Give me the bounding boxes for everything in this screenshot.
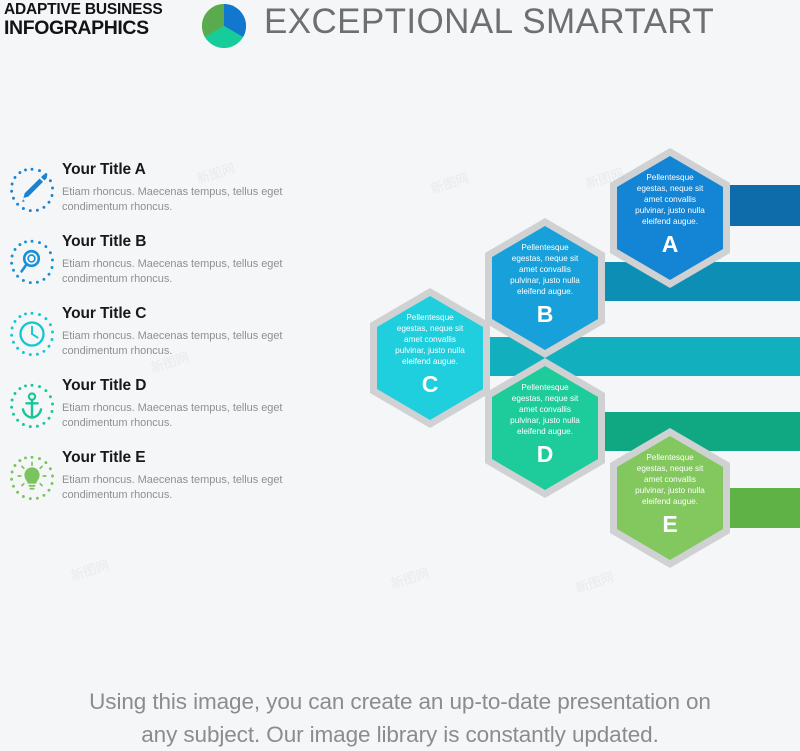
hexagon-e-line-2: egestas, neque sit bbox=[637, 464, 704, 473]
hexagon-e-line-1: Pellentesque bbox=[646, 453, 694, 462]
hexagon-e-letter: E bbox=[662, 511, 677, 537]
footer-line-2: any subject. Our image library is consta… bbox=[0, 718, 800, 751]
hexagon-b-letter: B bbox=[537, 301, 554, 327]
hexagon-d-letter: D bbox=[537, 441, 554, 467]
hexagon-b-line-1: Pellentesque bbox=[521, 243, 569, 252]
hexagon-d-line-2: egestas, neque sit bbox=[512, 394, 579, 403]
hexagon-c-line-3: amet convallis bbox=[404, 335, 456, 344]
hexagon-b-line-5: eleifend augue. bbox=[517, 287, 573, 296]
hexagon-e-line-4: pulvinar, justo nulla bbox=[635, 486, 705, 495]
hexagon-a-line-2: egestas, neque sit bbox=[637, 184, 704, 193]
hexagon-d-line-5: eleifend augue. bbox=[517, 427, 573, 436]
hexagon-c[interactable]: Pellentesque egestas, neque sit amet con… bbox=[370, 288, 490, 428]
hexagon-c-letter: C bbox=[422, 371, 439, 397]
hexagon-e-line-5: eleifend augue. bbox=[642, 497, 698, 506]
hexagon-a-line-5: eleifend augue. bbox=[642, 217, 698, 226]
hexagon-d[interactable]: Pellentesque egestas, neque sit amet con… bbox=[485, 358, 605, 498]
hexagon-d-line-1: Pellentesque bbox=[521, 383, 569, 392]
hexagon-b-line-4: pulvinar, justo nulla bbox=[510, 276, 580, 285]
hexagon-a-letter: A bbox=[662, 231, 679, 257]
hexagon-d-line-4: pulvinar, justo nulla bbox=[510, 416, 580, 425]
hexagon-infographic: Pellentesque egestas, neque sit amet con… bbox=[0, 0, 800, 620]
hexagon-b-line-3: amet convallis bbox=[519, 265, 571, 274]
hexagon-c-line-5: eleifend augue. bbox=[402, 357, 458, 366]
hexagon-d-line-3: amet convallis bbox=[519, 405, 571, 414]
hexagon-b-line-2: egestas, neque sit bbox=[512, 254, 579, 263]
footer-caption: Using this image, you can create an up-t… bbox=[0, 685, 800, 751]
hexagon-a-line-3: amet convallis bbox=[644, 195, 696, 204]
hexagon-a-line-4: pulvinar, justo nulla bbox=[635, 206, 705, 215]
footer-line-1: Using this image, you can create an up-t… bbox=[0, 685, 800, 718]
hexagon-e-line-3: amet convallis bbox=[644, 475, 696, 484]
hexagon-c-line-2: egestas, neque sit bbox=[397, 324, 464, 333]
hexagon-c-line-4: pulvinar, justo nulla bbox=[395, 346, 465, 355]
hexagon-c-line-1: Pellentesque bbox=[406, 313, 454, 322]
hexagon-a-line-1: Pellentesque bbox=[646, 173, 694, 182]
